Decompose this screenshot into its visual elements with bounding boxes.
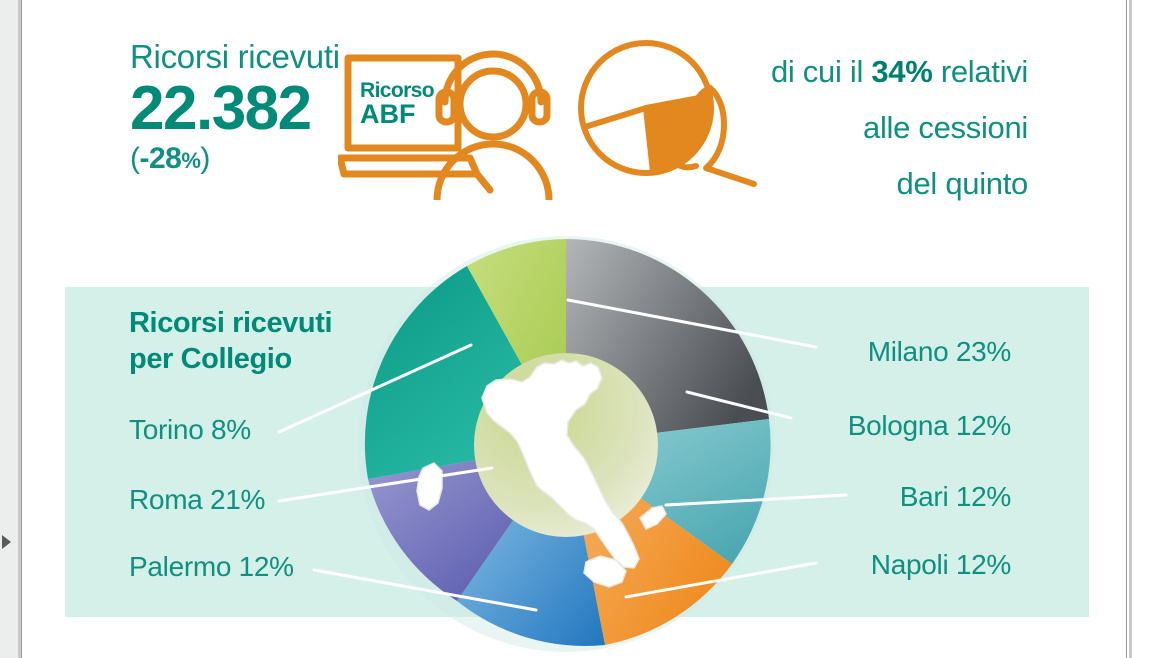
abf-screen-text: Ricorso ABF xyxy=(360,80,440,128)
stat-delta-pct: % xyxy=(181,148,200,173)
cessioni-line2: alle cessioni xyxy=(676,100,1028,156)
stat-delta-value: -28 xyxy=(140,142,182,175)
cessioni-line1-pre: di cui il xyxy=(771,54,871,89)
viewer-left-gutter xyxy=(0,0,22,658)
legend-item-milano: Milano 23% xyxy=(868,336,1011,368)
abf-operator-icon: Ricorso ABF xyxy=(338,40,553,200)
legend-item-roma: Roma 21% xyxy=(129,484,265,516)
legend-item-bari: Bari 12% xyxy=(900,481,1011,513)
panel-title-line2: per Collegio xyxy=(129,341,332,377)
cessioni-line1-post: relativi xyxy=(933,54,1029,89)
cessioni-pct: 34% xyxy=(871,54,932,89)
viewer-right-gutter xyxy=(1126,0,1170,658)
slide-canvas: Ricorsi ricevuti 22.382 (-28%) xyxy=(26,0,1124,658)
stat-delta: (-28%) xyxy=(130,142,370,178)
gutter-divider xyxy=(18,0,21,658)
legend-item-bologna: Bologna 12% xyxy=(848,410,1011,442)
legend-item-torino: Torino 8% xyxy=(129,414,251,446)
gutter-divider-right xyxy=(1129,0,1132,658)
abf-screen-line2: ABF xyxy=(360,101,440,128)
legend-item-napoli: Napoli 12% xyxy=(871,549,1011,581)
cessioni-text-block: di cui il 34% relativi alle cessioni del… xyxy=(676,44,1028,212)
cessioni-line1: di cui il 34% relativi xyxy=(676,44,1028,100)
stat-value: 22.382 xyxy=(130,76,370,142)
ricorsi-ricevuti-stat: Ricorsi ricevuti 22.382 (-28%) xyxy=(130,38,370,178)
legend-item-palermo: Palermo 12% xyxy=(129,551,294,583)
stat-label: Ricorsi ricevuti xyxy=(130,38,370,76)
collegio-pie-chart xyxy=(354,230,778,658)
panel-title: Ricorsi ricevuti per Collegio xyxy=(129,305,332,377)
abf-screen-line1: Ricorso xyxy=(360,80,440,101)
presentation-viewer: Ricorsi ricevuti 22.382 (-28%) xyxy=(0,0,1170,658)
stat-delta-close: ) xyxy=(200,142,210,175)
stat-delta-open: ( xyxy=(130,142,140,175)
pie-chart-svg xyxy=(354,230,778,658)
panel-title-line1: Ricorsi ricevuti xyxy=(129,305,332,341)
cessioni-line3: del quinto xyxy=(676,156,1028,212)
chevron-left-icon[interactable] xyxy=(2,535,11,549)
